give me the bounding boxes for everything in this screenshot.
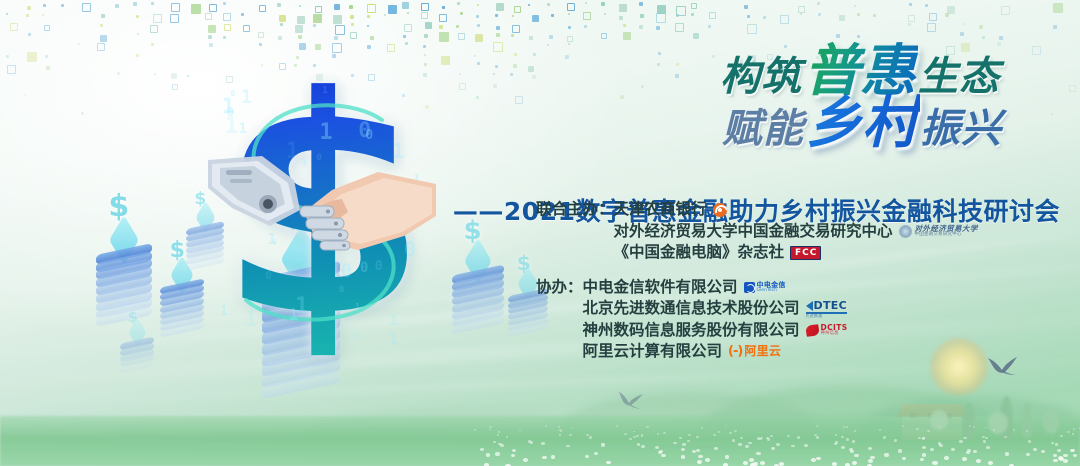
flower-speck (748, 442, 752, 445)
flower-speck (852, 461, 857, 465)
flower-speck (922, 437, 925, 439)
title-word-funeng: 赋能 (722, 106, 804, 152)
flower-speck (1067, 431, 1070, 433)
flower-speck (1051, 442, 1055, 445)
flower-speck (854, 454, 859, 457)
flower-speck (804, 444, 808, 447)
flower-speck (962, 457, 967, 461)
flower-speck (898, 449, 902, 452)
flower-speck (832, 462, 837, 466)
flower-speck (816, 425, 818, 427)
gientech-logo: 中电金信 GienTech (744, 282, 786, 294)
tree-shape (1043, 408, 1059, 434)
flower-speck (732, 439, 735, 442)
flower-speck (1072, 433, 1075, 435)
flower-speck (1026, 430, 1028, 432)
co-organizers-label: 协办： (536, 277, 583, 299)
flower-speck (541, 442, 545, 445)
flower-speck (1004, 436, 1007, 438)
flower-speck (714, 447, 718, 450)
flower-speck (816, 436, 819, 438)
tree-shape (963, 402, 975, 440)
co-organizer-row: 中电金信软件有限公司 中电金信 GienTech (583, 277, 956, 299)
flower-speck (894, 439, 897, 442)
flower-speck (939, 426, 941, 428)
flower-speck (1041, 450, 1045, 453)
flower-speck (959, 440, 962, 443)
flower-speck (745, 445, 749, 448)
flower-speck (1057, 449, 1061, 452)
co-organizers-group: 协办： 中电金信软件有限公司 中电金信 GienTech (536, 277, 956, 363)
flower-speck (569, 434, 572, 436)
co-organizer-name: 北京先进数通信息技术股份公司 (583, 298, 800, 320)
dcits-logo: DCITS 神州信息 (806, 324, 848, 336)
fcc-logo: FCC (790, 246, 821, 260)
flower-speck (705, 458, 710, 462)
uibe-logo-sub: 中国金融交易研究中心 (915, 233, 978, 238)
gientech-logo-en: GienTech (757, 289, 786, 294)
flower-speck (542, 456, 547, 460)
title-line-2: 赋能乡村振兴 (722, 96, 1002, 152)
flower-speck (986, 446, 990, 449)
flower-speck (489, 426, 491, 428)
title-word-xiangcun: 乡村 (804, 91, 920, 156)
flower-speck (814, 434, 817, 436)
handshake-illustration (208, 154, 436, 274)
flower-speck (927, 430, 930, 432)
dtec-triangle-icon (806, 301, 813, 311)
co-organizer-name: 中电金信软件有限公司 (583, 277, 738, 299)
uibe-seal-icon (899, 225, 912, 238)
flower-speck (637, 443, 641, 446)
flower-speck (779, 462, 784, 466)
swallow-bird-icon-right (986, 355, 1022, 377)
flower-speck (646, 426, 648, 428)
flower-speck (743, 461, 748, 465)
flower-speck (791, 445, 795, 448)
flower-speck (879, 429, 881, 431)
dcits-logo-cn: 神州信息 (821, 332, 848, 337)
flower-speck (663, 432, 666, 434)
uibe-logo: 对外经济贸易大学 中国金融交易研究中心 (899, 225, 978, 238)
flower-speck (681, 455, 686, 459)
flower-speck (963, 437, 966, 439)
flower-speck (852, 440, 855, 443)
title-word-zhenxing: 振兴 (920, 106, 1002, 152)
flower-speck (944, 456, 949, 460)
flower-speck (729, 432, 732, 434)
flower-speck (797, 436, 800, 438)
flower-speck (1013, 429, 1015, 431)
tree-shape (1022, 402, 1032, 438)
flower-speck (868, 447, 872, 450)
swallow-bird-icon-left (615, 388, 647, 412)
flower-speck (776, 443, 780, 446)
flower-speck (1005, 452, 1009, 455)
flower-speck (951, 448, 955, 451)
fcc-logo-text: FCC (790, 246, 821, 260)
flower-speck (530, 441, 533, 444)
flower-speck (571, 427, 573, 429)
flower-speck (586, 434, 589, 436)
flower-speck (760, 461, 765, 465)
flower-speck (558, 426, 560, 428)
flower-speck (749, 458, 754, 462)
flower-speck (969, 425, 971, 427)
flower-speck (633, 436, 636, 438)
dtec-logo-cn: 先进数通 (806, 314, 823, 318)
flower-speck (545, 425, 547, 427)
flower-speck (688, 434, 691, 436)
flower-speck (846, 438, 849, 440)
flower-speck (770, 435, 773, 437)
dtec-logo-en: DTEC (814, 300, 847, 311)
flower-speck (849, 448, 853, 451)
hosts-label: 联合主办： (536, 199, 614, 221)
flower-speck (500, 444, 504, 447)
tjrcb-logo (713, 203, 727, 217)
dtec-logo: DTEC 先进数通 (806, 300, 847, 318)
flower-speck (1055, 443, 1059, 446)
flower-speck (884, 453, 889, 456)
flower-speck (657, 433, 660, 435)
flower-speck (916, 428, 918, 430)
flower-speck (480, 448, 484, 451)
aliyun-logo: (-) 阿里云 (728, 341, 781, 363)
gientech-mark-icon (744, 282, 755, 293)
flower-speck (692, 450, 696, 453)
flower-speck (1063, 459, 1068, 463)
flower-speck (713, 434, 716, 436)
aliyun-logo-cn: 阿里云 (744, 341, 781, 363)
flower-speck (1026, 453, 1030, 456)
flower-speck (696, 449, 700, 452)
co-organizer-row: 北京先进数通信息技术股份公司 DTEC 先进数通 (583, 298, 956, 320)
conference-banner: $$$$$$$ $ 011010011001101001100110100110… (0, 0, 1080, 466)
flower-speck (740, 437, 743, 439)
flower-speck (495, 452, 499, 455)
aliyun-bracket-icon: (-) (728, 345, 742, 358)
grass-field (0, 416, 1080, 466)
flower-speck (641, 434, 644, 436)
flower-speck (1073, 428, 1075, 430)
flower-speck (506, 436, 509, 438)
title-word-gouzhu: 构筑 (720, 54, 802, 100)
flower-speck (725, 455, 730, 459)
co-organizer-row: 神州数码信息服务股份有限公司 DCITS 神州信息 (583, 320, 956, 342)
flower-speck (988, 461, 993, 465)
flower-speck (811, 458, 816, 462)
host-name: 《中国金融电脑》杂志社 (614, 242, 785, 264)
flower-speck (624, 433, 627, 435)
flower-speck (843, 426, 845, 428)
credits-block: 联合主办： 天津农商银行 对外经济贸易大学中国金融交易研究中心 对外经济贸易大学… (536, 199, 956, 363)
host-row: 对外经济贸易大学中国金融交易研究中心 对外经济贸易大学 中国金融交易研究中心 (614, 221, 978, 243)
flower-speck (982, 436, 985, 438)
dcits-swoosh-icon (805, 324, 819, 337)
co-organizer-row: 阿里云计算有限公司 (-) 阿里云 (583, 341, 956, 363)
flower-speck (846, 426, 848, 428)
flower-speck (474, 429, 476, 431)
flower-speck (854, 430, 856, 432)
host-row: 天津农商银行 (614, 199, 978, 221)
host-name: 对外经济贸易大学中国金融交易研究中心 (614, 221, 893, 243)
flower-speck (922, 453, 927, 456)
flower-speck (983, 440, 986, 443)
flower-speck (512, 449, 516, 452)
tree-shape (988, 412, 1008, 434)
flower-speck (883, 436, 886, 438)
flower-speck (759, 438, 762, 440)
flower-speck (734, 430, 737, 432)
dollar-sign-graphic: $ 01101001100110100110011010011001101001… (188, 62, 458, 362)
flower-speck (523, 458, 528, 462)
hosts-group: 联合主办： 天津农商银行 对外经济贸易大学中国金融交易研究中心 对外经济贸易大学… (536, 199, 956, 264)
co-organizer-name: 阿里云计算有限公司 (583, 341, 723, 363)
flower-speck (771, 447, 775, 450)
flower-speck (932, 461, 937, 465)
co-organizer-name: 神州数码信息服务股份有限公司 (583, 320, 800, 342)
flower-speck (682, 443, 686, 446)
flower-speck (636, 435, 639, 437)
title-word-shengtai: 生态 (918, 54, 1000, 100)
flower-speck (701, 427, 703, 429)
host-name: 天津农商银行 (614, 199, 707, 221)
host-row: 《中国金融电脑》杂志社 FCC (614, 242, 978, 264)
